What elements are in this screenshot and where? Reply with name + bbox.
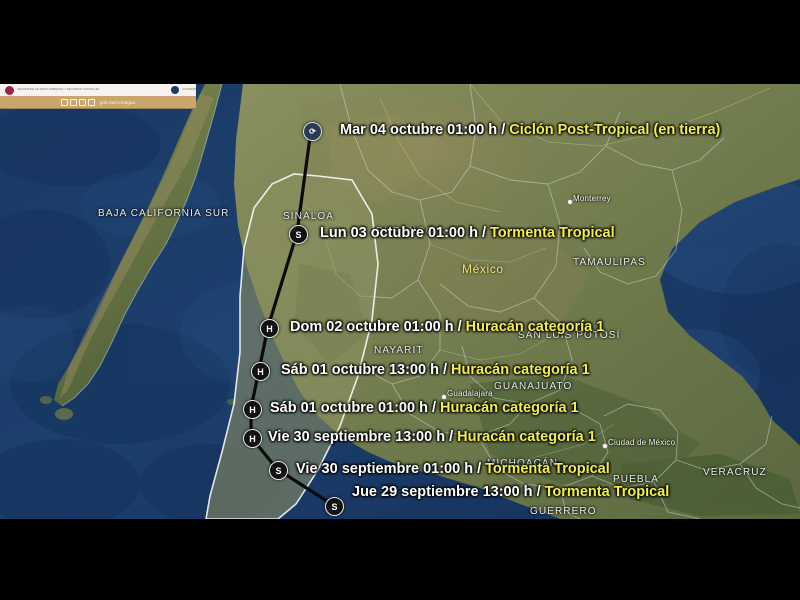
city-dot-monterrey [567,199,573,205]
track-separator: / [537,484,541,500]
tropical-storm-icon: S [275,466,281,476]
track-separator: / [482,225,486,241]
track-separator: / [443,362,447,378]
track-label-tropical-storm-2: Vie 30 septiembre 01:00 h / Tormenta Tro… [296,461,610,477]
track-separator: / [501,122,505,138]
track-marker-tropical-storm-3[interactable]: S [325,497,344,516]
letterbox-bar-top [0,0,800,84]
track-separator: / [458,319,462,335]
instagram-icon[interactable] [70,99,77,106]
track-category: Huracán categoría 1 [466,319,605,335]
banner-org-line-2: COMISIÓN NACIONAL DEL AGUA [182,89,196,92]
track-label-hurricane-3: Sáb 01 octubre 01:00 h / Huracán categor… [270,400,579,416]
track-datetime: Sáb 01 octubre 13:00 h [281,362,439,378]
tropical-storm-icon: S [331,502,337,512]
track-label-tropical-storm-3: Jue 29 septiembre 13:00 h / Tormenta Tro… [352,484,669,500]
track-marker-hurricane-3[interactable]: H [243,400,262,419]
gobmx-url-text[interactable]: gob.mx/conagua [100,100,135,105]
letterbox-bar-bottom [0,519,800,600]
hurricane-icon: H [249,405,256,415]
gobierno-seal-icon [5,86,14,95]
hurricane-icon: H [266,324,273,334]
track-datetime: Lun 03 octubre 01:00 h [320,225,478,241]
conagua-logo-icon [171,86,179,94]
tropical-storm-icon: S [295,230,301,240]
hurricane-icon: H [257,367,264,377]
map-graphics [0,84,800,519]
track-category: Tormenta Tropical [545,484,670,500]
track-label-hurricane-4: Vie 30 septiembre 13:00 h / Huracán cate… [268,429,596,445]
track-datetime: Jue 29 septiembre 13:00 h [352,484,533,500]
track-datetime: Sáb 01 octubre 01:00 h [270,400,428,416]
track-label-post-tropical: Mar 04 octubre 01:00 h / Ciclón Post-Tro… [340,122,720,138]
track-category: Ciclón Post-Tropical (en tierra) [509,122,720,138]
banner-org-strip: SECRETARÍA DE MEDIO AMBIENTE Y RECURSOS … [0,84,196,96]
track-datetime: Vie 30 septiembre 13:00 h [268,429,445,445]
track-category: Tormenta Tropical [485,461,610,477]
track-label-hurricane-2: Sáb 01 octubre 13:00 h / Huracán categor… [281,362,590,378]
track-category: Tormenta Tropical [490,225,615,241]
youtube-icon[interactable] [88,99,95,106]
track-marker-tropical-storm-1[interactable]: S [289,225,308,244]
banner-social-strip: gob.mx/conagua [0,96,196,108]
track-separator: / [432,400,436,416]
banner-org-line-1: SECRETARÍA DE MEDIO AMBIENTE Y RECURSOS … [17,89,99,92]
track-category: Huracán categoría 1 [440,400,579,416]
track-marker-post-tropical[interactable]: ⟳ [303,122,322,141]
track-marker-hurricane-1[interactable]: H [260,319,279,338]
track-category: Huracán categoría 1 [451,362,590,378]
track-label-tropical-storm-1: Lun 03 octubre 01:00 h / Tormenta Tropic… [320,225,615,241]
conagua-gobmx-banner: SECRETARÍA DE MEDIO AMBIENTE Y RECURSOS … [0,84,196,109]
track-datetime: Dom 02 octubre 01:00 h [290,319,454,335]
screenshot-stage: México BAJA CALIFORNIA SUR SINALOA DURAN… [0,0,800,600]
track-separator: / [477,461,481,477]
track-datetime: Mar 04 octubre 01:00 h [340,122,497,138]
city-dot-ciudad-de-mexico [602,443,608,449]
twitter-icon[interactable] [79,99,86,106]
track-datetime: Vie 30 septiembre 01:00 h [296,461,473,477]
track-marker-hurricane-4[interactable]: H [243,429,262,448]
facebook-icon[interactable] [61,99,68,106]
track-separator: / [449,429,453,445]
track-label-hurricane-1: Dom 02 octubre 01:00 h / Huracán categor… [290,319,604,335]
track-marker-hurricane-2[interactable]: H [251,362,270,381]
post-tropical-icon: ⟳ [309,127,316,136]
hurricane-icon: H [249,434,256,444]
track-category: Huracán categoría 1 [457,429,596,445]
hurricane-track-map[interactable]: México BAJA CALIFORNIA SUR SINALOA DURAN… [0,84,800,519]
track-marker-tropical-storm-2[interactable]: S [269,461,288,480]
